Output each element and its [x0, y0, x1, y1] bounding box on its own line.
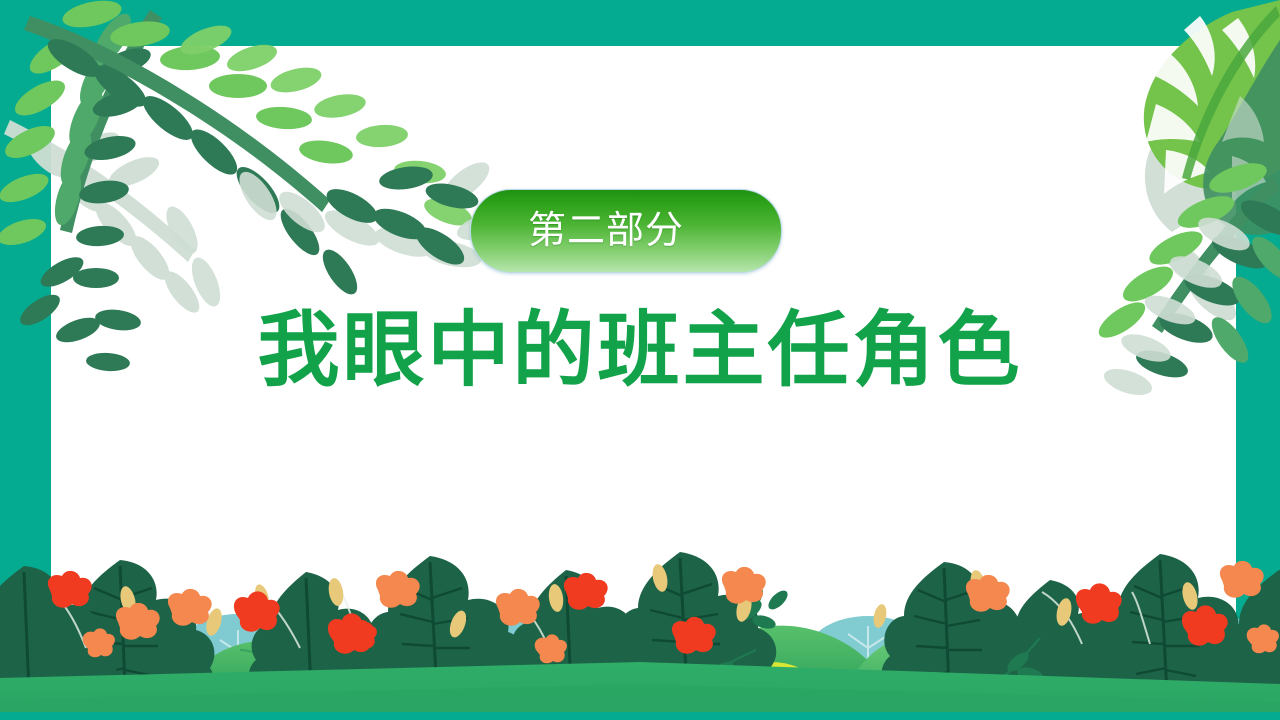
section-badge[interactable]: 第二部分 [470, 189, 782, 273]
section-badge-label: 第二部分 [528, 212, 684, 250]
slide-canvas: 第二部分 我眼中的班主任角色 [0, 0, 1280, 720]
section-title: 我眼中的班主任角色 [0, 303, 1280, 399]
